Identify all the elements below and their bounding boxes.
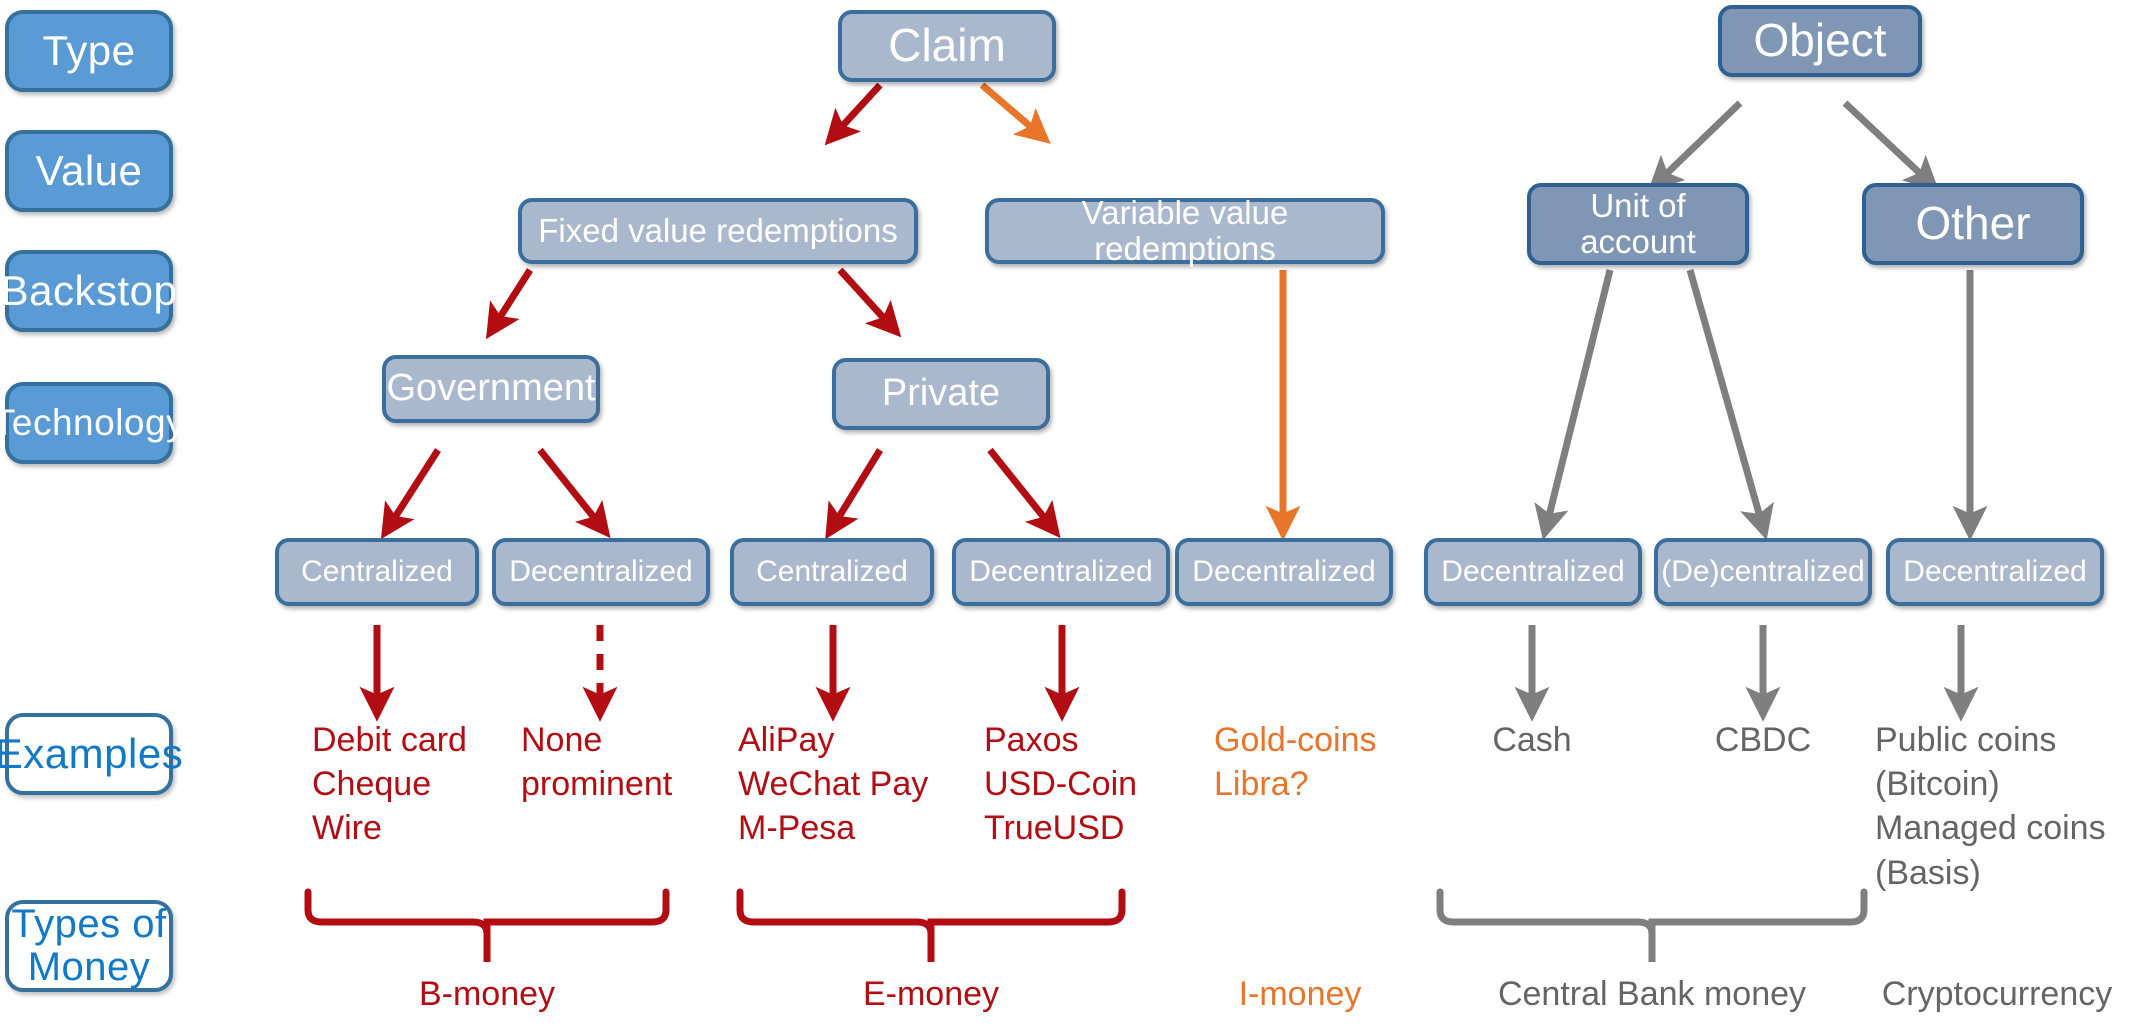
row-label-value[interactable]: Value: [5, 130, 173, 212]
node-private[interactable]: Private: [832, 358, 1050, 430]
examples-cbdc: CBDC: [1683, 718, 1843, 762]
arrow-fixed-to-private: [840, 270, 890, 325]
arrow-object-to-other: [1845, 103, 1927, 180]
node-object[interactable]: Object: [1718, 5, 1922, 77]
node-tech-gov-decentralized[interactable]: Decentralized: [492, 538, 710, 606]
examples-e-centralized: AliPay WeChat Pay M-Pesa: [738, 718, 988, 851]
node-fixed-value-redemptions[interactable]: Fixed value redemptions: [518, 198, 918, 264]
brace-e-money: [740, 892, 1122, 934]
node-government[interactable]: Government: [382, 355, 600, 423]
node-tech-variable-decentralized[interactable]: Decentralized: [1175, 538, 1393, 606]
row-label-backstop[interactable]: Backstop: [5, 250, 173, 332]
examples-b-centralized: Debit card Cheque Wire: [312, 718, 532, 851]
row-label-examples[interactable]: Examples: [5, 713, 173, 795]
brace-b-money: [308, 892, 666, 934]
connector-layer: [0, 0, 2145, 1033]
node-tech-uoa-decentralized[interactable]: Decentralized: [1424, 538, 1642, 606]
node-other[interactable]: Other: [1862, 183, 2084, 265]
node-unit-of-account[interactable]: Unit of account: [1527, 183, 1749, 265]
money-type-i-money: I-money: [1185, 972, 1415, 1016]
row-label-technology[interactable]: Technology: [5, 382, 173, 464]
examples-cash: Cash: [1452, 718, 1612, 762]
arrow-government-to-centralized: [390, 450, 438, 525]
money-type-e-money: E-money: [816, 972, 1046, 1016]
arrow-fixed-to-government: [495, 270, 530, 325]
node-tech-gov-centralized[interactable]: Centralized: [275, 538, 479, 606]
arrow-claim-to-variable: [982, 85, 1038, 133]
examples-i-money: Gold-coins Libra?: [1214, 718, 1454, 806]
money-type-central-bank-money: Central Bank money: [1487, 972, 1817, 1016]
node-claim[interactable]: Claim: [838, 10, 1056, 82]
node-tech-priv-centralized[interactable]: Centralized: [730, 538, 934, 606]
node-tech-uoa-de-centralized[interactable]: (De)centralized: [1654, 538, 1872, 606]
node-variable-value-redemptions[interactable]: Variable value redemptions: [985, 198, 1385, 264]
examples-cryptocurrency: Public coins (Bitcoin) Managed coins (Ba…: [1875, 718, 2145, 895]
arrow-unit-to-de-centralized: [1690, 270, 1762, 524]
row-label-types-of-money[interactable]: Types of Money: [5, 900, 173, 992]
money-type-cryptocurrency: Cryptocurrency: [1852, 972, 2142, 1016]
arrow-private-to-centralized: [834, 450, 880, 525]
arrow-object-to-unit-of-account: [1660, 103, 1740, 180]
diagram-canvas: Type Value Backstop Technology Examples …: [0, 0, 2145, 1033]
row-label-type[interactable]: Type: [5, 10, 173, 92]
node-tech-priv-decentralized[interactable]: Decentralized: [952, 538, 1170, 606]
node-tech-other-decentralized[interactable]: Decentralized: [1886, 538, 2104, 606]
brace-central-bank-money: [1440, 892, 1864, 934]
arrow-government-to-decentralized: [540, 450, 600, 525]
arrow-unit-to-decentralized: [1547, 270, 1610, 524]
examples-e-decentralized: Paxos USD-Coin TrueUSD: [984, 718, 1234, 851]
arrow-claim-to-fixed: [836, 85, 880, 133]
money-type-b-money: B-money: [372, 972, 602, 1016]
examples-b-decentralized: None prominent: [521, 718, 751, 806]
arrow-private-to-decentralized: [990, 450, 1050, 525]
